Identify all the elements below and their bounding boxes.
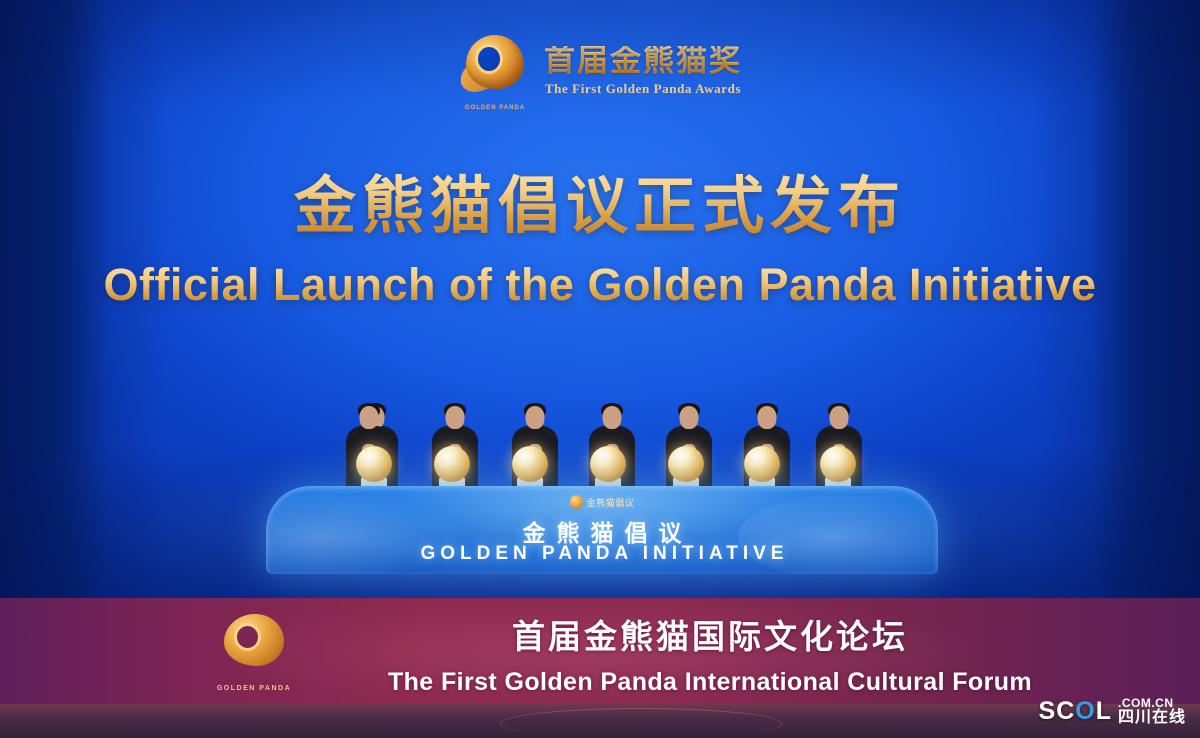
banner-emblem-caption: GOLDEN PANDA <box>206 685 302 692</box>
floor-pattern <box>500 708 782 738</box>
watermark-brand: SCOL <box>1039 697 1112 726</box>
top-logo-text: 首届金熊猫奖 The First Golden Panda Awards <box>544 46 742 95</box>
golden-panda-swirl-icon: GOLDEN PANDA <box>458 31 532 109</box>
stage-photo: GOLDEN PANDA 首届金熊猫奖 The First Golden Pan… <box>0 0 1200 738</box>
banner-text-block: 首届金熊猫国际文化论坛 The First Golden Panda Inter… <box>330 610 1090 697</box>
banner-title-cn: 首届金熊猫国际文化论坛 <box>330 610 1090 658</box>
headline-block: 金熊猫倡议正式发布 Official Launch of the Golden … <box>0 155 1200 311</box>
watermark-brand-sc: SC <box>1039 697 1076 725</box>
headline-en: Official Launch of the Golden Panda Init… <box>0 259 1200 311</box>
podium-emblem: 金熊猫倡议 <box>558 492 646 512</box>
watermark-brand-o: O <box>1075 697 1095 726</box>
top-logo-lockup: GOLDEN PANDA 首届金熊猫奖 The First Golden Pan… <box>0 22 1200 118</box>
podium-emblem-caption-cn: 金熊猫倡议 <box>587 496 635 509</box>
watermark-brand-l: L <box>1096 697 1112 725</box>
top-logo-title-cn: 首届金熊猫奖 <box>544 46 742 77</box>
banner-golden-panda-icon: GOLDEN PANDA <box>206 612 302 694</box>
top-logo-title-en: The First Golden Panda Awards <box>545 82 741 95</box>
podium-panel: 金熊猫倡议 金熊猫倡议 GOLDEN PANDA INITIATIVE <box>266 486 938 574</box>
watermark-right: .COM.CN 四川在线 <box>1118 697 1186 726</box>
watermark: SCOL .COM.CN 四川在线 <box>1039 697 1186 726</box>
podium-title-en: GOLDEN PANDA INITIATIVE <box>266 543 938 565</box>
lower-led-banner: GOLDEN PANDA 首届金熊猫国际文化论坛 The First Golde… <box>0 598 1200 706</box>
watermark-cn: 四川在线 <box>1118 709 1186 726</box>
podium-swirl-icon <box>570 495 583 509</box>
banner-title-en: The First Golden Panda International Cul… <box>330 668 1090 697</box>
emblem-caption: GOLDEN PANDA <box>458 105 532 111</box>
headline-cn: 金熊猫倡议正式发布 <box>0 155 1200 245</box>
